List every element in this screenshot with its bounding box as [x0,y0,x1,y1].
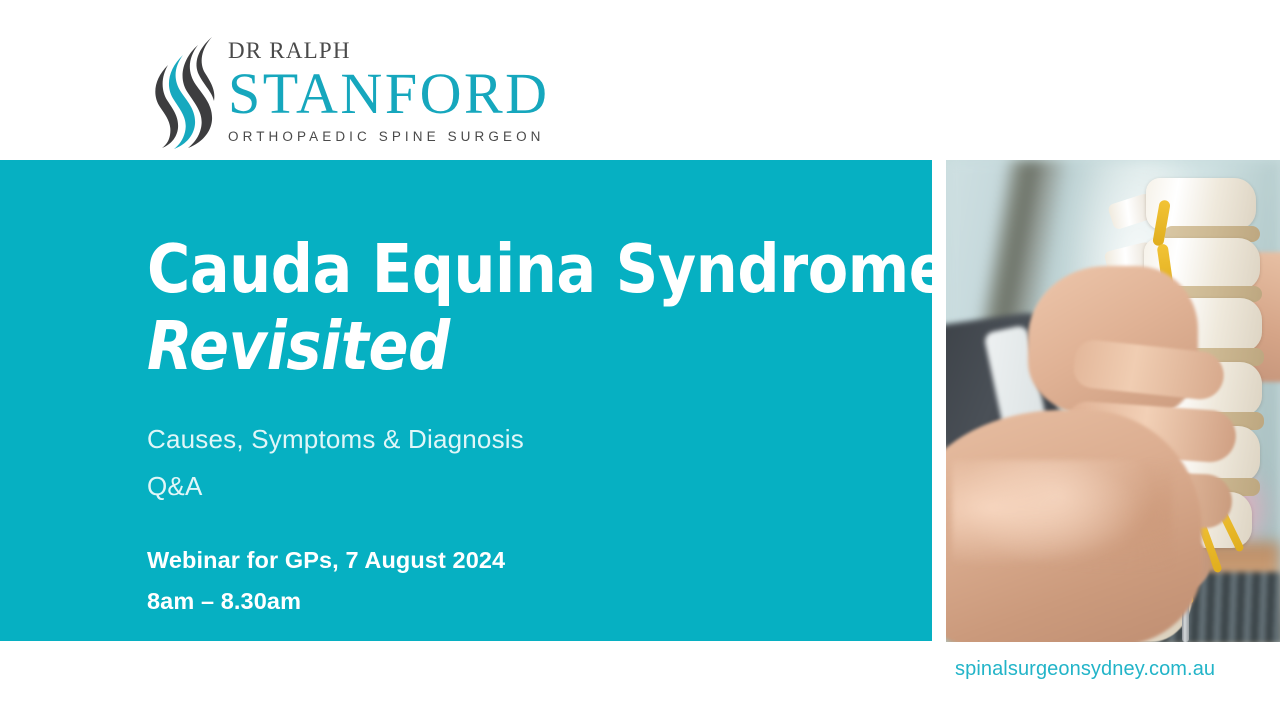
presentation-slide: DR RALPH STANFORD ORTHOPAEDIC SPINE SURG… [0,0,1280,720]
agenda-item-2: Q&A [147,473,203,499]
slide-title-line1: Cauda Equina Syndrome [147,236,948,303]
brand-logo: DR RALPH STANFORD ORTHOPAEDIC SPINE SURG… [146,33,526,151]
website-url[interactable]: spinalsurgeonsydney.com.au [955,659,1215,679]
logo-line-dr-ralph: DR RALPH [228,33,528,62]
spine-model-photo [946,160,1280,642]
event-detail-time: 8am – 8.30am [147,590,301,614]
logo-tagline: ORTHOPAEDIC SPINE SURGEON [228,130,528,144]
brand-wordmark: DR RALPH STANFORD ORTHOPAEDIC SPINE SURG… [228,33,528,149]
slide-title-line2: Revisited [147,313,450,380]
agenda-item-1: Causes, Symptoms & Diagnosis [147,426,524,452]
spine-swirl-icon [146,35,224,149]
photo-knuckle-shading [952,460,1172,580]
logo-line-stanford: STANFORD [228,64,528,123]
event-detail-date: Webinar for GPs, 7 August 2024 [147,549,505,573]
